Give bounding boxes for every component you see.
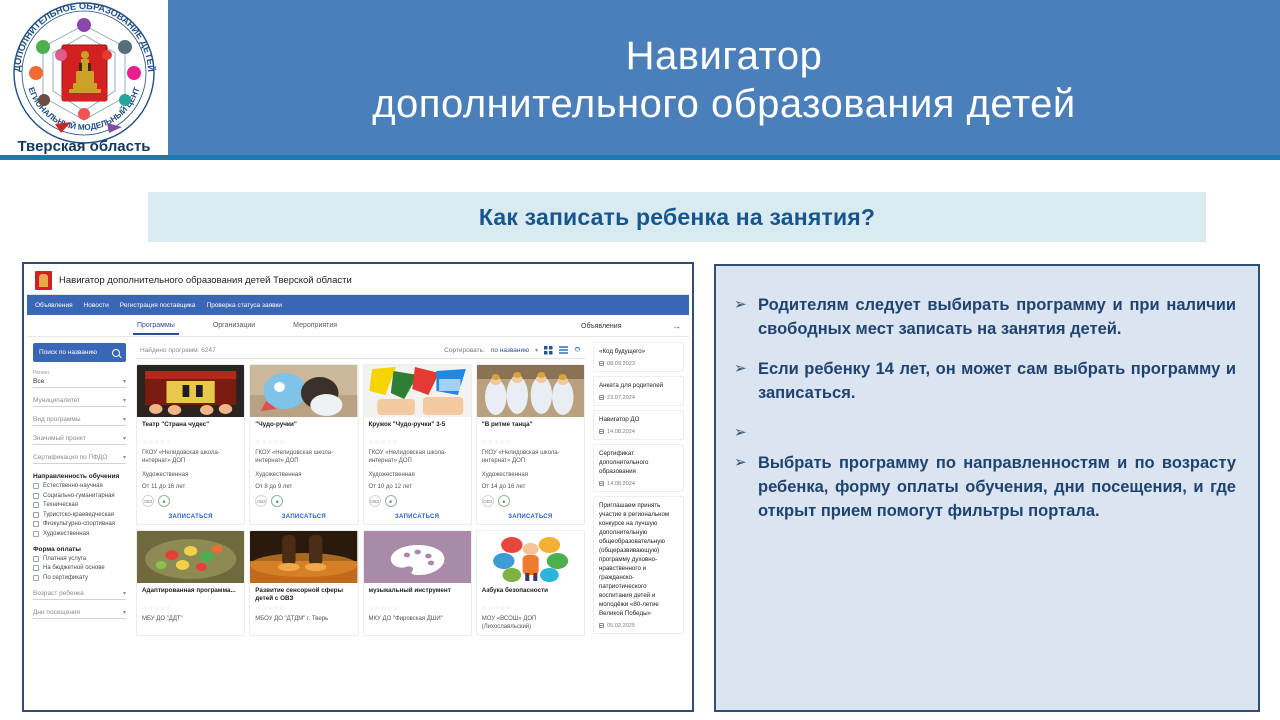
rating-stars[interactable]: ☆☆☆☆☆: [142, 439, 239, 446]
header-underline-left: [0, 155, 168, 160]
chevron-down-icon[interactable]: ▾: [535, 347, 538, 354]
filter-visit-days[interactable]: Дни посещения▾: [33, 608, 126, 619]
filter-child-age[interactable]: Возраст ребенка▾: [33, 589, 126, 600]
checkbox-direction-4[interactable]: Физкультурно-спортивная: [33, 521, 126, 527]
checkbox-payment-0[interactable]: Платная услуга: [33, 556, 126, 562]
bullet-item-3: ➢: [734, 422, 1236, 445]
filter-municipality[interactable]: Муниципалитет▾: [33, 396, 126, 407]
enroll-button[interactable]: ЗАПИСАТЬСЯ: [255, 514, 352, 520]
search-placeholder: Поиск по названию: [39, 349, 97, 356]
program-name: музыкальный инструмент: [369, 587, 466, 603]
calendar-icon: [599, 481, 604, 486]
nav-link-announcements[interactable]: Объявления: [35, 302, 73, 309]
program-name: "В ритме танца": [482, 421, 579, 437]
checkbox-label: Туристско-краеведческая: [43, 512, 114, 518]
results-count: Найдено программ: 6247: [140, 347, 216, 354]
announcement-title: Сертификат дополнительного образования: [599, 450, 678, 477]
checkbox-icon: [33, 502, 39, 508]
rating-stars[interactable]: ☆☆☆☆☆: [142, 605, 239, 612]
program-card[interactable]: Кружок "Чудо-ручки" 3-5 ☆☆☆☆☆ ГКОУ «Нели…: [363, 364, 472, 525]
checkbox-icon: [33, 521, 39, 527]
announcement-date: 14.08.2024: [607, 429, 635, 435]
announcement-date-row: 05.02.2025: [599, 623, 678, 629]
enroll-button[interactable]: ЗАПИСАТЬСЯ: [142, 514, 239, 520]
page-title-line2: дополнительного образования детей: [372, 80, 1076, 128]
chevron-down-icon: ▾: [123, 417, 126, 423]
calendar-icon: [599, 623, 604, 628]
filter-region[interactable]: Регион Все▾: [33, 370, 126, 388]
logo-area: ДОПОЛНИТЕЛЬНОЕ ОБРАЗОВАНИЕ ДЕТЕЙ РЕГИОНА…: [0, 0, 168, 160]
sort-value[interactable]: по названию: [491, 347, 529, 354]
announcement-date-row: 08.09.2023: [599, 361, 678, 367]
program-direction: Художественная: [369, 472, 466, 478]
map-pin-icon[interactable]: [574, 346, 581, 355]
checkbox-icon: [33, 575, 39, 581]
bullet-text: Родителям следует выбирать программу и п…: [758, 294, 1236, 342]
page-title: Навигатор дополнительного образования де…: [372, 32, 1076, 128]
person-badge-icon: ☻: [498, 495, 510, 507]
enroll-button[interactable]: ЗАПИСАТЬСЯ: [482, 514, 579, 520]
checkbox-direction-0[interactable]: Естественно-научная: [33, 483, 126, 489]
program-cards-row-1: Театр "Страна чудес" ☆☆☆☆☆ ГКОУ «Нелидов…: [136, 364, 585, 525]
payment-group-title: Форма оплаты: [33, 546, 126, 553]
chevron-down-icon: ▾: [123, 610, 126, 616]
filter-significant-project-value: Значимый проект: [33, 435, 86, 442]
checkbox-icon: [33, 512, 39, 518]
announcement-date: 05.02.2025: [607, 623, 635, 629]
announcement-date: 08.09.2023: [607, 361, 635, 367]
sensory-photo: [250, 531, 357, 583]
tab-events[interactable]: Мероприятия: [293, 322, 337, 329]
theatre-photo: [137, 365, 244, 417]
rating-stars[interactable]: ☆☆☆☆☆: [255, 439, 352, 446]
grid-view-icon[interactable]: [544, 346, 553, 355]
checkbox-label: Платная услуга: [43, 556, 86, 562]
filter-pfdo-value: Сертификация по ПФДО: [33, 454, 107, 461]
site-topbar: Навигатор дополнительного образования де…: [27, 267, 689, 295]
checkbox-label: Физкультурно-спортивная: [43, 521, 115, 527]
bullet-item-1: ➢ Родителям следует выбирать программу и…: [734, 294, 1236, 342]
subtitle-banner: Как записать ребенка на занятия?: [148, 192, 1206, 242]
announcements-header: Объявления →: [581, 321, 681, 331]
rating-stars[interactable]: ☆☆☆☆☆: [369, 605, 466, 612]
announcement-date-row: 14.08.2024: [599, 429, 678, 435]
tab-organizations[interactable]: Организации: [213, 322, 255, 329]
rating-stars[interactable]: ☆☆☆☆☆: [369, 439, 466, 446]
chevron-down-icon: ▾: [123, 591, 126, 597]
calendar-icon: [599, 361, 604, 366]
program-age: От 8 до 9 лет: [255, 484, 352, 490]
announcement-date: 14.08.2024: [607, 481, 635, 487]
portal-screenshot: Навигатор дополнительного образования де…: [27, 267, 689, 707]
bullet-item-4: ➢ Выбрать программу по направленностям и…: [734, 452, 1236, 524]
program-org: ГКОУ «Нелидовская школа-интернат» ДОП: [142, 449, 239, 465]
filter-program-type[interactable]: Вид программы▾: [33, 415, 126, 426]
checkbox-label: Художественная: [43, 531, 89, 537]
craft-photo: [250, 365, 357, 417]
program-name: Адаптированная программа...: [142, 587, 239, 603]
chevron-down-icon: ▾: [123, 398, 126, 404]
bullet-item-2: ➢ Если ребенку 14 лет, он может сам выбр…: [734, 358, 1236, 406]
regional-model-center-logo: ДОПОЛНИТЕЛЬНОЕ ОБРАЗОВАНИЕ ДЕТЕЙ РЕГИОНА…: [3, 1, 165, 159]
portal-screenshot-panel: Навигатор дополнительного образования де…: [22, 262, 694, 712]
calendar-icon: [599, 395, 604, 400]
program-age: От 10 до 12 лет: [369, 484, 466, 490]
program-org: ГКОУ «Нелидовская школа-интернат» ДОП: [255, 449, 352, 465]
checkbox-direction-3[interactable]: Туристско-краеведческая: [33, 512, 126, 518]
site-coat-of-arms-icon: [35, 271, 52, 290]
slide-header: ДОПОЛНИТЕЛЬНОЕ ОБРАЗОВАНИЕ ДЕТЕЙ РЕГИОНА…: [0, 0, 1280, 160]
announcement-item[interactable]: Сертификат дополнительного образования 1…: [593, 444, 684, 492]
announcement-date: 23.07.2024: [607, 395, 635, 401]
announcements-label: Объявления: [581, 323, 622, 330]
filters-sidebar: Поиск по названию Регион Все▾ Муниципали…: [27, 337, 132, 707]
rating-stars[interactable]: ☆☆☆☆☆: [482, 605, 579, 612]
announcement-title: «Код будущего»: [599, 348, 678, 357]
logo-emblem-icon: ДОПОЛНИТЕЛЬНОЕ ОБРАЗОВАНИЕ ДЕТЕЙ РЕГИОНА…: [3, 1, 165, 159]
site-body: Поиск по названию Регион Все▾ Муниципали…: [27, 337, 689, 707]
program-org: МБУ ДО "ДДТ": [142, 615, 239, 631]
person-badge-icon: ☻: [385, 495, 397, 507]
announcement-date-row: 14.08.2024: [599, 481, 678, 487]
checkbox-icon: [33, 483, 39, 489]
program-name: "Чудо-ручки": [255, 421, 352, 437]
calendar-icon: [599, 429, 604, 434]
bullet-arrow-icon: ➢: [734, 358, 748, 406]
safety-photo: [477, 531, 584, 583]
announcement-date-row: 23.07.2024: [599, 395, 678, 401]
certificate-badge-icon: ОВЗ: [482, 495, 494, 507]
nav-link-supplier-registration[interactable]: Регистрация поставщика: [120, 302, 196, 309]
enroll-button[interactable]: ЗАПИСАТЬСЯ: [369, 514, 466, 520]
header-title-band: Навигатор дополнительного образования де…: [168, 0, 1280, 160]
palette-icon: [364, 531, 471, 583]
announcement-title: Приглашаем принять участие в регионально…: [599, 502, 678, 619]
program-age: От 14 до 16 лет: [482, 484, 579, 490]
list-view-icon[interactable]: [559, 346, 568, 355]
program-org: ГКОУ «Нелидовская школа-интернат» ДОП: [482, 449, 579, 465]
filter-municipality-value: Муниципалитет: [33, 397, 80, 404]
site-title: Навигатор дополнительного образования де…: [59, 275, 352, 286]
tab-programs[interactable]: Программы: [137, 322, 175, 329]
checkbox-payment-2[interactable]: По сертификату: [33, 575, 126, 581]
program-card[interactable]: музыкальный инструмент ☆☆☆☆☆ МКУ ДО "Фир…: [363, 530, 472, 636]
certificate-badge-icon: ОВЗ: [369, 495, 381, 507]
paper-photo: [364, 365, 471, 417]
checkbox-label: Социально-гуманитарная: [43, 493, 115, 499]
program-name: Развитие сенсорной сферы детей с ОВЗ: [255, 587, 352, 603]
header-underline: [168, 155, 1280, 160]
checkbox-icon: [33, 565, 39, 571]
checkbox-direction-5[interactable]: Художественная: [33, 531, 126, 537]
checkbox-label: Техническая: [43, 502, 78, 508]
arrow-right-icon[interactable]: →: [672, 321, 681, 331]
rating-stars[interactable]: ☆☆☆☆☆: [482, 439, 579, 446]
program-org: ГКОУ «Нелидовская школа-интернат» ДОП: [369, 449, 466, 465]
checkbox-payment-1[interactable]: На бюджетной основе: [33, 565, 126, 571]
program-card[interactable]: Азбука безопасности ☆☆☆☆☆ МОУ «ВСОШ» ДОП…: [476, 530, 585, 636]
announcement-title: Анкета для родителей: [599, 382, 678, 391]
chevron-down-icon: ▾: [123, 436, 126, 442]
program-direction: Художественная: [255, 472, 352, 478]
site-tabs[interactable]: Программы Организации Мероприятия Объявл…: [27, 315, 689, 337]
program-name: Азбука безопасности: [482, 587, 579, 603]
program-card[interactable]: Развитие сенсорной сферы детей с ОВЗ ☆☆☆…: [249, 530, 358, 636]
filter-pfdo-certification[interactable]: Сертификация по ПФДО▾: [33, 453, 126, 464]
program-direction: Художественная: [142, 472, 239, 478]
bullet-text: Если ребенку 14 лет, он может сам выбрат…: [758, 358, 1236, 406]
checkbox-icon: [33, 556, 39, 562]
site-nav[interactable]: Объявления Новости Регистрация поставщик…: [27, 295, 689, 315]
program-card[interactable]: Театр "Страна чудес" ☆☆☆☆☆ ГКОУ «Нелидов…: [136, 364, 245, 525]
rating-stars[interactable]: ☆☆☆☆☆: [255, 605, 352, 612]
announcements-sidebar: «Код будущего» 08.09.2023 Анкета для род…: [589, 337, 689, 707]
subtitle-text: Как записать ребенка на занятия?: [479, 204, 875, 231]
nav-link-news[interactable]: Новости: [84, 302, 109, 309]
search-icon: [112, 349, 120, 357]
program-direction: Художественная: [482, 472, 579, 478]
announcement-item[interactable]: «Код будущего» 08.09.2023: [593, 342, 684, 372]
announcement-item[interactable]: Анкета для родителей 23.07.2024: [593, 376, 684, 406]
chevron-down-icon: ▾: [123, 455, 126, 461]
filter-child-age-value: Возраст ребенка: [33, 590, 84, 597]
results-toolbar: Найдено программ: 6247 Сортировать: по н…: [136, 342, 585, 359]
nav-link-application-status[interactable]: Проверка статуса заявки: [207, 302, 283, 309]
program-org: МБОУ ДО "ДТДМ" г. Тверь: [255, 615, 352, 631]
instructions-panel: ➢ Родителям следует выбирать программу и…: [714, 264, 1260, 712]
bullet-arrow-icon: ➢: [734, 452, 748, 524]
announcement-title: Навигатор ДО: [599, 416, 678, 425]
program-org: МОУ «ВСОШ» ДОП (Лихославльский): [482, 615, 579, 631]
person-badge-icon: ☻: [271, 495, 283, 507]
program-name: Кружок "Чудо-ручки" 3-5: [369, 421, 466, 437]
checkbox-icon: [33, 531, 39, 537]
checkbox-label: По сертификату: [43, 575, 88, 581]
filter-visit-days-value: Дни посещения: [33, 609, 80, 616]
bullet-text: Выбрать программу по направленностям и п…: [758, 452, 1236, 524]
bullet-arrow-icon: ➢: [734, 294, 748, 342]
program-card[interactable]: Адаптированная программа... ☆☆☆☆☆ МБУ ДО…: [136, 530, 245, 636]
direction-group-title: Направленность обучения: [33, 473, 126, 480]
chevron-down-icon: ▾: [123, 379, 126, 385]
checkbox-label: Естественно-научная: [43, 483, 103, 489]
program-age: От 11 до 16 лет: [142, 484, 239, 490]
checkbox-direction-1[interactable]: Социально-гуманитарная: [33, 493, 126, 499]
certificate-badge-icon: ОВЗ: [255, 495, 267, 507]
dance-photo: [477, 365, 584, 417]
announcement-item[interactable]: Навигатор ДО 14.08.2024: [593, 410, 684, 440]
certificate-badge-icon: ОВЗ: [142, 495, 154, 507]
bullet-text: [758, 422, 1236, 445]
page-title-line1: Навигатор: [626, 34, 823, 78]
logo-region-label: Тверская область: [3, 138, 165, 155]
mosaic-photo: [137, 531, 244, 583]
filter-program-type-value: Вид программы: [33, 416, 81, 423]
filter-significant-project[interactable]: Значимый проект▾: [33, 434, 126, 445]
program-card[interactable]: "В ритме танца" ☆☆☆☆☆ ГКОУ «Нелидовская …: [476, 364, 585, 525]
checkbox-icon: [33, 493, 39, 499]
filter-region-value: Все: [33, 378, 44, 385]
bullet-arrow-icon: ➢: [734, 422, 748, 445]
program-name: Театр "Страна чудес": [142, 421, 239, 437]
filter-region-label: Регион: [33, 370, 126, 376]
sort-label: Сортировать:: [444, 347, 485, 354]
announcement-item[interactable]: Приглашаем принять участие в регионально…: [593, 496, 684, 634]
person-badge-icon: ☻: [158, 495, 170, 507]
programs-results: Найдено программ: 6247 Сортировать: по н…: [132, 337, 589, 707]
program-org: МКУ ДО "Фировская ДШИ": [369, 615, 466, 631]
program-cards-row-2: Адаптированная программа... ☆☆☆☆☆ МБУ ДО…: [136, 530, 585, 636]
program-card[interactable]: "Чудо-ручки" ☆☆☆☆☆ ГКОУ «Нелидовская шко…: [249, 364, 358, 525]
checkbox-label: На бюджетной основе: [43, 565, 105, 571]
checkbox-direction-2[interactable]: Техническая: [33, 502, 126, 508]
search-input[interactable]: Поиск по названию: [33, 343, 126, 362]
